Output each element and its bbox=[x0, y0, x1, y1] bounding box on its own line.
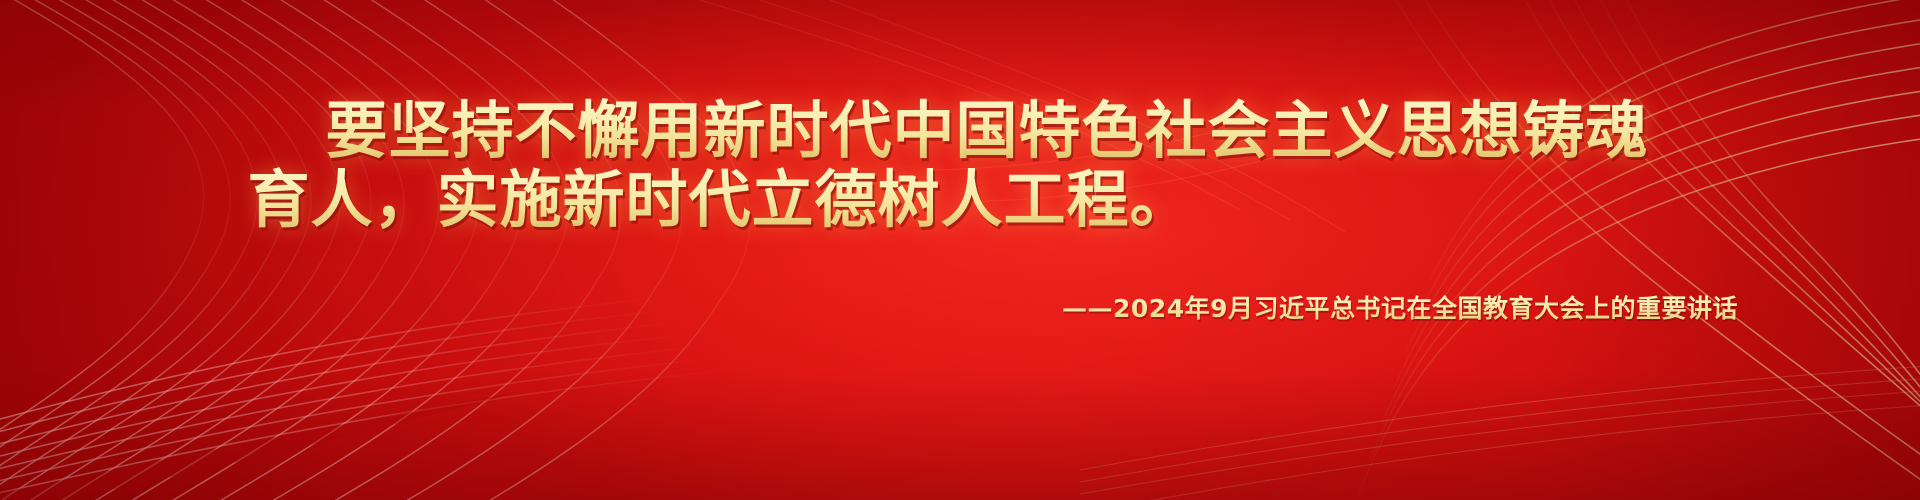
attribution-text: ——2024年9月习近平总书记在全国教育大会上的重要讲话 bbox=[1062, 289, 1738, 325]
headline-block: 要坚持不懈用新时代中国特色社会主义思想铸魂 育人，实施新时代立德树人工程。 bbox=[0, 96, 1920, 235]
headline-line-2: 育人，实施新时代立德树人工程。 bbox=[0, 165, 1920, 234]
red-banner: 要坚持不懈用新时代中国特色社会主义思想铸魂 育人，实施新时代立德树人工程。 ——… bbox=[0, 0, 1920, 500]
headline-line-1: 要坚持不懈用新时代中国特色社会主义思想铸魂 bbox=[0, 96, 1920, 165]
banner-content: 要坚持不懈用新时代中国特色社会主义思想铸魂 育人，实施新时代立德树人工程。 ——… bbox=[0, 0, 1920, 500]
